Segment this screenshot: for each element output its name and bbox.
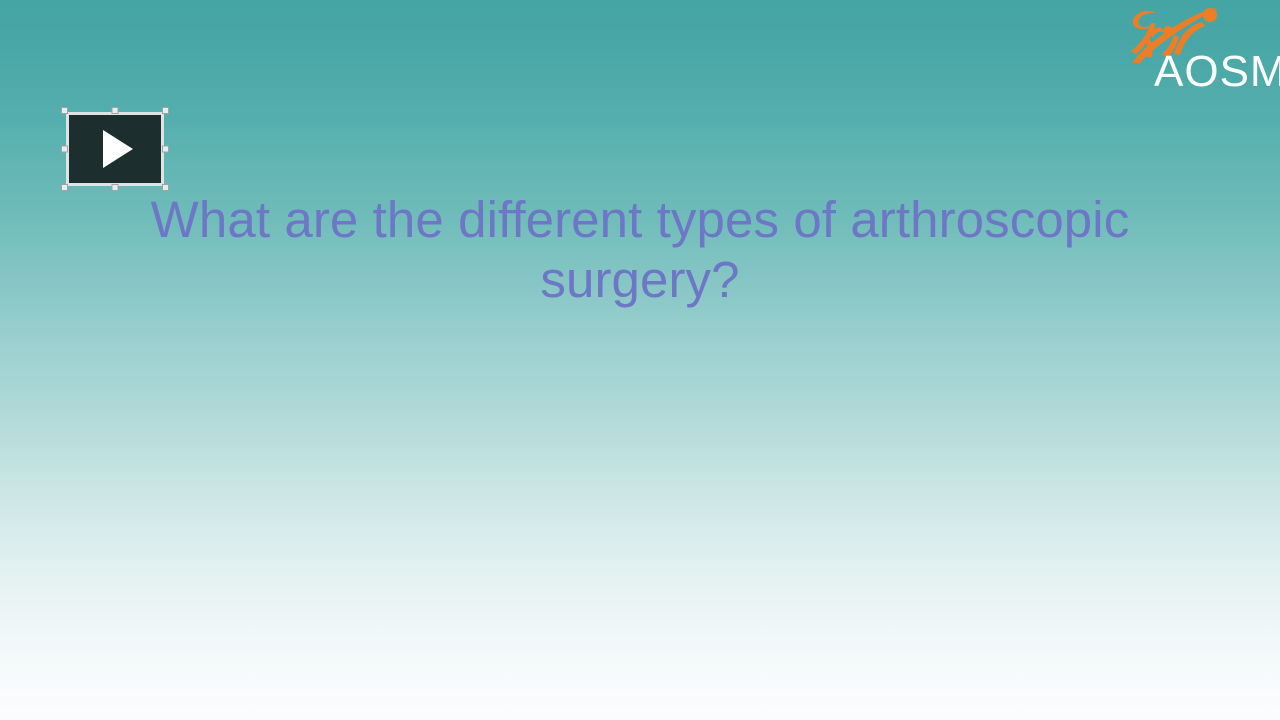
resize-handle-top-left[interactable] (61, 107, 68, 114)
resize-handle-middle-right[interactable] (162, 146, 169, 153)
video-placeholder[interactable] (66, 112, 164, 186)
slide-title: What are the different types of arthrosc… (80, 190, 1200, 310)
play-icon[interactable] (103, 130, 133, 168)
resize-handle-top-middle[interactable] (112, 107, 119, 114)
resize-handle-middle-left[interactable] (61, 146, 68, 153)
title-block: What are the different types of arthrosc… (80, 190, 1200, 310)
logo-wordmark: AOSM (1154, 50, 1280, 94)
resize-handle-top-right[interactable] (162, 107, 169, 114)
running-figures-icon (1118, 2, 1228, 64)
resize-handle-bottom-left[interactable] (61, 184, 68, 191)
aosm-logo: AOSM (1114, 0, 1280, 100)
slide-canvas: AOSM What are the different types of art… (0, 0, 1280, 720)
video-frame[interactable] (66, 112, 164, 186)
